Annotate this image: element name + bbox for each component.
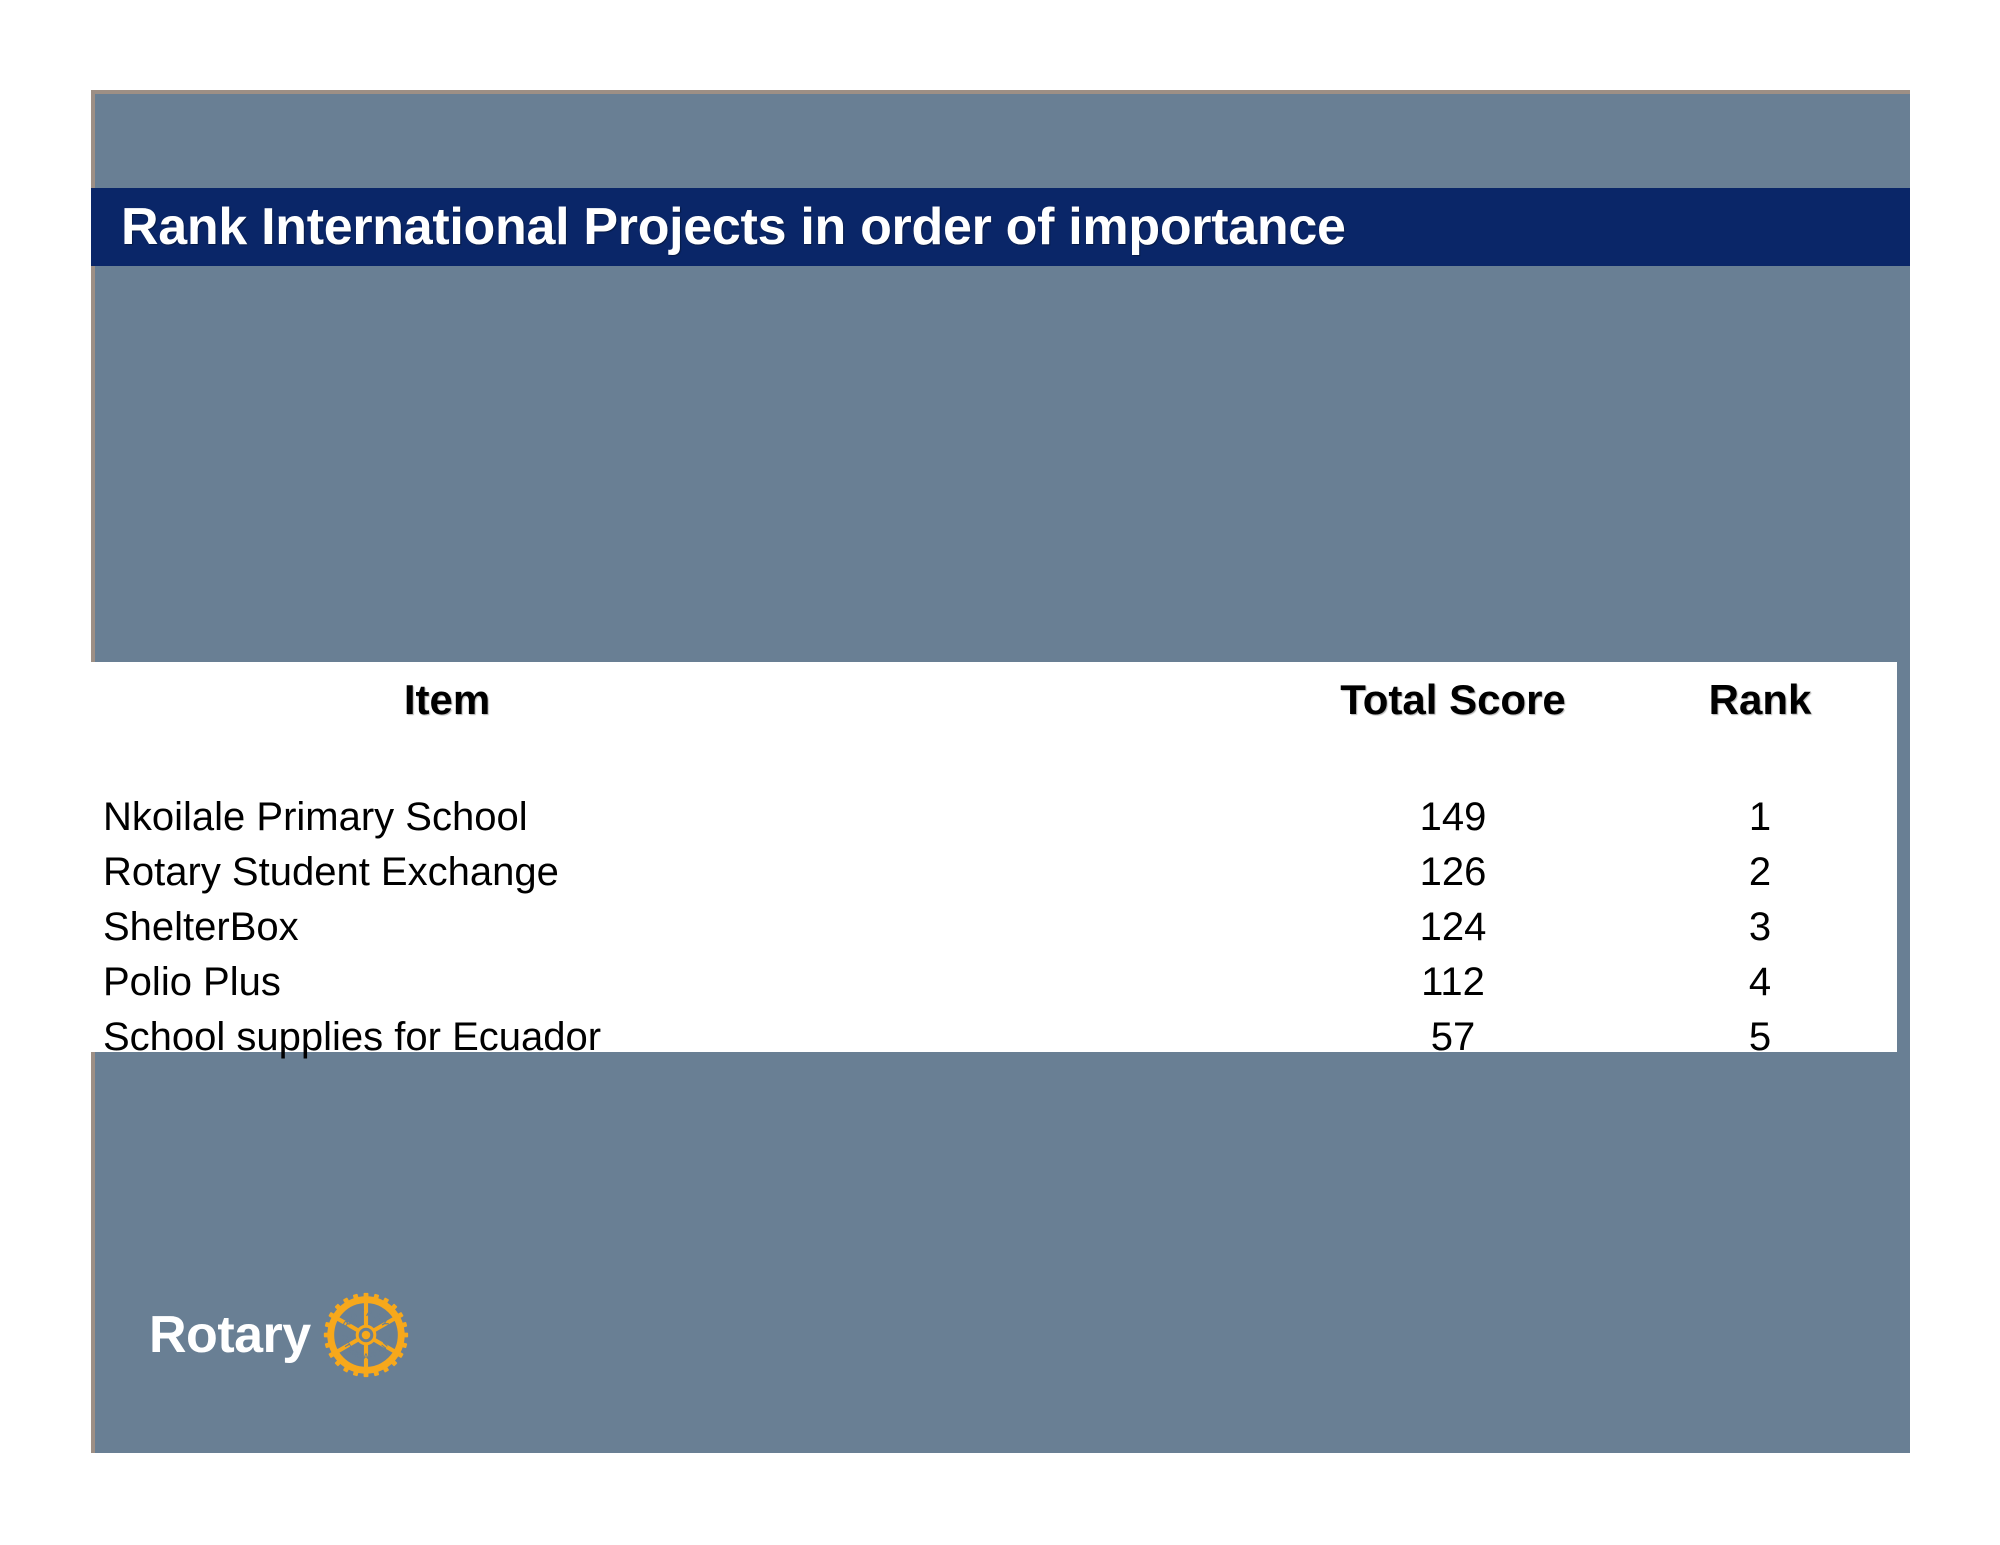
cell-item: School supplies for Ecuador: [91, 1010, 1283, 1065]
cell-total-score: 149: [1283, 790, 1623, 845]
cell-item: Rotary Student Exchange: [91, 845, 1283, 900]
table-body: Nkoilale Primary School 149 1 Rotary Stu…: [91, 790, 1897, 1065]
slide-title-bar: Rank International Projects in order of …: [91, 188, 1910, 266]
page-title: Rank International Projects in order of …: [91, 197, 1346, 257]
spacer-cell: [1623, 724, 1897, 790]
cell-total-score: 112: [1283, 955, 1623, 1010]
table-header-row: Item Total Score Rank: [91, 662, 1897, 724]
table-header: Item Total Score Rank: [91, 662, 1897, 790]
table-row: Rotary Student Exchange 126 2: [91, 845, 1897, 900]
column-header-item: Item: [91, 662, 1283, 724]
slide-canvas: Rank International Projects in order of …: [91, 90, 1910, 1453]
cell-item: Polio Plus: [91, 955, 1283, 1010]
table-row: School supplies for Ecuador 57 5: [91, 1010, 1897, 1065]
table-row: Nkoilale Primary School 149 1: [91, 790, 1897, 845]
score-table-panel: Item Total Score Rank Nkoilale Primary S…: [91, 662, 1897, 1052]
table-header-spacer: [91, 724, 1897, 790]
table-row: Polio Plus 112 4: [91, 955, 1897, 1010]
cell-total-score: 57: [1283, 1010, 1623, 1065]
rotary-wheel-icon: ROTARY INTERNATIONAL: [323, 1292, 409, 1378]
cell-rank: 4: [1623, 955, 1897, 1010]
cell-total-score: 124: [1283, 900, 1623, 955]
cell-total-score: 126: [1283, 845, 1623, 900]
cell-rank: 2: [1623, 845, 1897, 900]
spacer-cell: [91, 724, 1283, 790]
cell-rank: 1: [1623, 790, 1897, 845]
table-row: ShelterBox 124 3: [91, 900, 1897, 955]
column-header-total-score: Total Score: [1283, 662, 1623, 724]
cell-rank: 5: [1623, 1010, 1897, 1065]
column-header-rank: Rank: [1623, 662, 1897, 724]
spacer-cell: [1283, 724, 1623, 790]
rotary-logo: Rotary: [149, 1292, 409, 1378]
cell-item: Nkoilale Primary School: [91, 790, 1283, 845]
rotary-wordmark: Rotary: [149, 1305, 311, 1365]
cell-item: ShelterBox: [91, 900, 1283, 955]
cell-rank: 3: [1623, 900, 1897, 955]
ranking-table: Item Total Score Rank Nkoilale Primary S…: [91, 662, 1897, 1065]
